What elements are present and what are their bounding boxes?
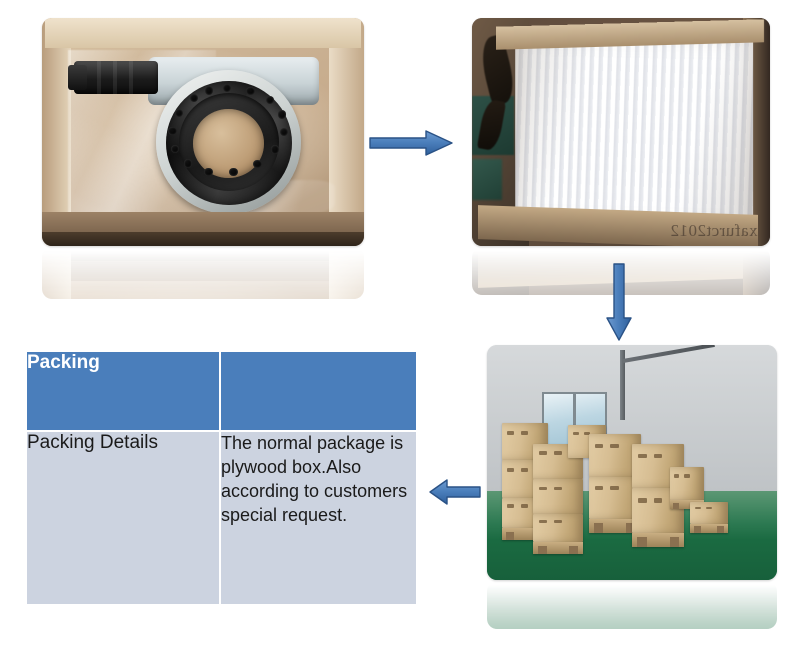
photo-stacked-crates-warehouse (487, 345, 777, 580)
photo-watermark: xafurct2012 (670, 221, 758, 241)
packing-table: Packing Packing Details The normal packa… (27, 352, 416, 604)
packing-flow-diagram: xafurct2012 (0, 0, 800, 658)
packing-details-value: The normal package is plywood box.Also a… (221, 430, 416, 604)
arrow-right-icon (368, 128, 454, 158)
table-header-packing: Packing (27, 352, 221, 430)
table-header-empty (221, 352, 416, 430)
photo-warehouse-reflection (487, 581, 777, 629)
arrow-left-icon (428, 478, 482, 506)
photo-slew-drive-reflection (42, 247, 364, 299)
table-header-row: Packing (27, 352, 416, 430)
photo-foam-lined-crate: xafurct2012 (472, 18, 770, 246)
table-row: Packing Details The normal package is pl… (27, 430, 416, 604)
photo-slew-drive-in-crate (42, 18, 364, 246)
arrow-down-icon (604, 262, 634, 342)
packing-details-label: Packing Details (27, 430, 221, 604)
